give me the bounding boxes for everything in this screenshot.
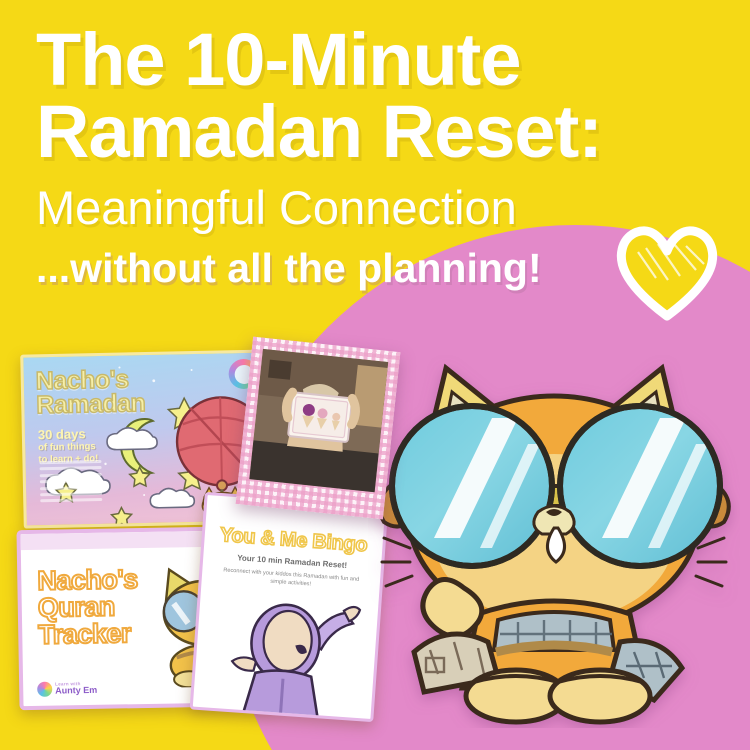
ramadan-subtitle-main: 30 days <box>38 426 86 442</box>
product-card-you-and-me-bingo[interactable]: You & Me Bingo Your 10 min Ramadan Reset… <box>190 492 389 722</box>
quran-title-line-3: Tracker <box>38 618 131 650</box>
polaroid-photo-image <box>249 349 388 492</box>
aunty-em-name: Aunty Em <box>55 685 97 696</box>
bingo-card-body-text: Reconnect with your kiddos this Ramadan … <box>218 566 365 593</box>
photo-contents <box>249 349 388 492</box>
aunty-em-logo: Learn with Aunty Em <box>37 681 97 697</box>
headline-line-2: Ramadan Reset: <box>36 98 726 166</box>
quran-card-title: Nacho's Quran Tracker <box>37 566 139 649</box>
bingo-card-character-illustration <box>218 595 376 723</box>
polaroid-photo-frame[interactable] <box>236 337 401 520</box>
headline-line-1: The 10-Minute <box>36 26 726 94</box>
aunty-em-logo-icon <box>37 682 52 697</box>
aunty-em-logo-text: Learn with Aunty Em <box>55 682 97 696</box>
nacho-cat-mascot <box>368 352 740 728</box>
ramadan-title-line-2: Ramadan <box>36 389 146 419</box>
ramadan-card-topic-list <box>39 460 102 506</box>
promo-poster: The 10-Minute Ramadan Reset: Meaningful … <box>0 0 750 750</box>
heart-doodle-icon <box>612 218 722 323</box>
ramadan-card-title: Nacho's Ramadan <box>36 367 146 417</box>
